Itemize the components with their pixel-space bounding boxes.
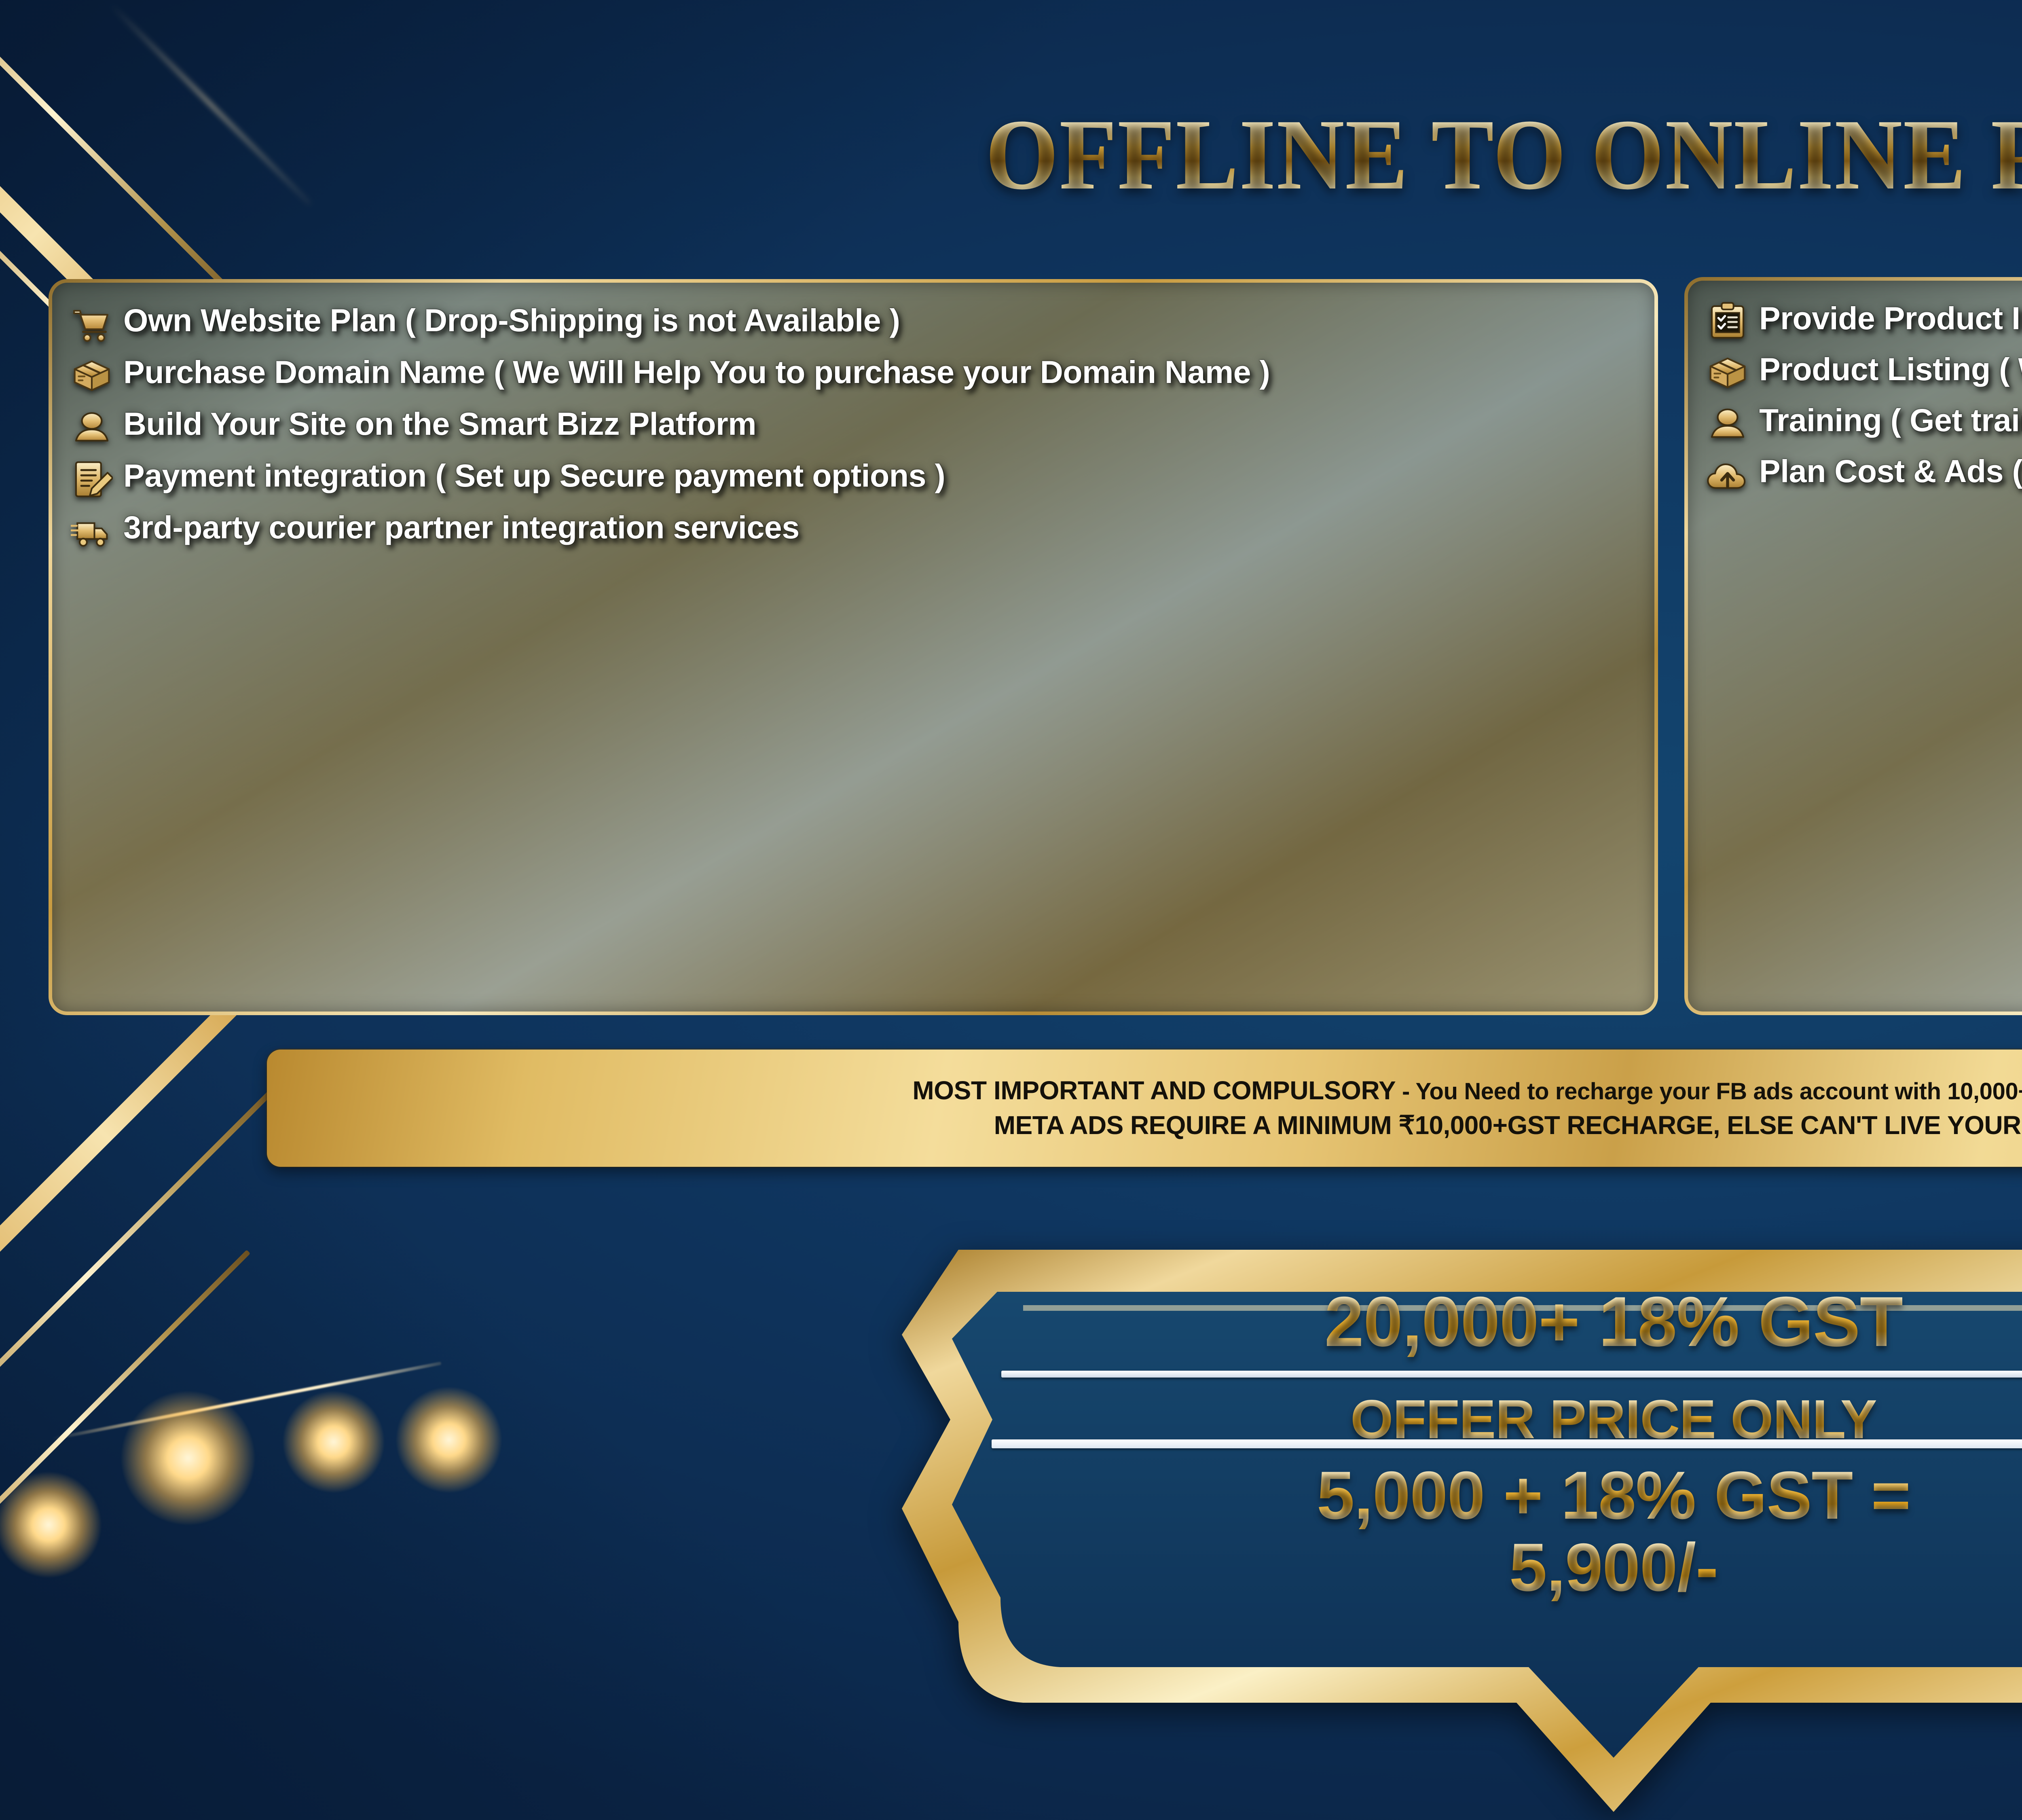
person-icon (71, 406, 113, 449)
notice-line-2: META ADS REQUIRE A MINIMUM ₹10,000+GST R… (994, 1111, 2022, 1140)
original-price-row: 20,000+ 18% GST (999, 1286, 2022, 1359)
notice-line-1: MOST IMPORTANT AND COMPULSORY - You Need… (912, 1076, 2022, 1105)
price-divider (1001, 1371, 2022, 1378)
list-item-label: Provide Product Info ( Client provides p… (1759, 298, 2022, 338)
list-item: Purchase Domain Name ( We Will Help You … (71, 352, 1640, 397)
strikethrough-line (992, 1439, 2022, 1448)
list-item-label: Product Listing ( We will List 20 produc… (1759, 349, 2022, 389)
list-item-label: 3rd-party courier partner integration se… (123, 508, 799, 547)
features-panel-right: Provide Product Info ( Client provides p… (1684, 277, 2022, 1015)
list-item-label: Training ( Get training for adding more … (1759, 400, 2022, 440)
list-item: Build Your Site on the Smart Bizz Platfo… (71, 404, 1640, 449)
delivery-truck-icon (71, 510, 113, 552)
price-badge-content: 20,000+ 18% GST OFFER PRICE ONLY 5,000 +… (999, 1286, 2022, 1602)
list-item-label: Purchase Domain Name ( We Will Help You … (123, 352, 1270, 392)
list-item: Plan Cost & Ads ( 5,000+ tax ( Plan Fee … (1707, 451, 2022, 496)
compulsory-notice-banner: MOST IMPORTANT AND COMPULSORY - You Need… (267, 1050, 2022, 1167)
notice-line-1-strong: MOST IMPORTANT AND COMPULSORY (912, 1076, 1396, 1105)
notice-line-1-rest: - You Need to recharge your FB ads accou… (1396, 1078, 2022, 1105)
list-item: Product Listing ( We will List 20 produc… (1707, 349, 2022, 394)
offer-price-calculation: 5,000 + 18% GST = (999, 1461, 2022, 1530)
list-item: 3rd-party courier partner integration se… (71, 508, 1640, 552)
list-item-label: Payment integration ( Set up Secure paym… (123, 456, 945, 495)
features-panel-left: Own Website Plan ( Drop-Shipping is not … (49, 279, 1658, 1015)
original-price: 20,000+ 18% GST (1324, 1286, 1903, 1359)
light-node-4 (396, 1387, 501, 1492)
package-box-icon (1707, 352, 1749, 394)
light-node-3 (283, 1391, 384, 1492)
offer-price-total: 5,900/- (999, 1533, 2022, 1602)
price-badge: 20,000+ 18% GST OFFER PRICE ONLY 5,000 +… (902, 1217, 2022, 1812)
page-title: OFFLINE TO ONLINE PLAN (113, 104, 2022, 205)
list-item-label: Build Your Site on the Smart Bizz Platfo… (123, 404, 756, 444)
list-item-label: Plan Cost & Ads ( 5,000+ tax ( Plan Fee … (1759, 451, 2022, 491)
list-item: Training ( Get training for adding more … (1707, 400, 2022, 445)
light-node-2 (121, 1391, 255, 1525)
person-icon (1707, 403, 1749, 445)
list-item-label: Own Website Plan ( Drop-Shipping is not … (123, 301, 900, 340)
clipboard-checklist-icon (1707, 301, 1749, 343)
document-pen-icon (71, 458, 113, 500)
list-item: Own Website Plan ( Drop-Shipping is not … (71, 301, 1640, 345)
offer-price-label: OFFER PRICE ONLY (999, 1391, 2022, 1448)
list-item: Provide Product Info ( Client provides p… (1707, 298, 2022, 343)
shopping-cart-icon (71, 303, 113, 345)
list-item: Payment integration ( Set up Secure paym… (71, 456, 1640, 500)
light-node-1 (0, 1472, 101, 1577)
package-box-icon (71, 355, 113, 397)
cloud-upload-icon (1707, 454, 1749, 496)
